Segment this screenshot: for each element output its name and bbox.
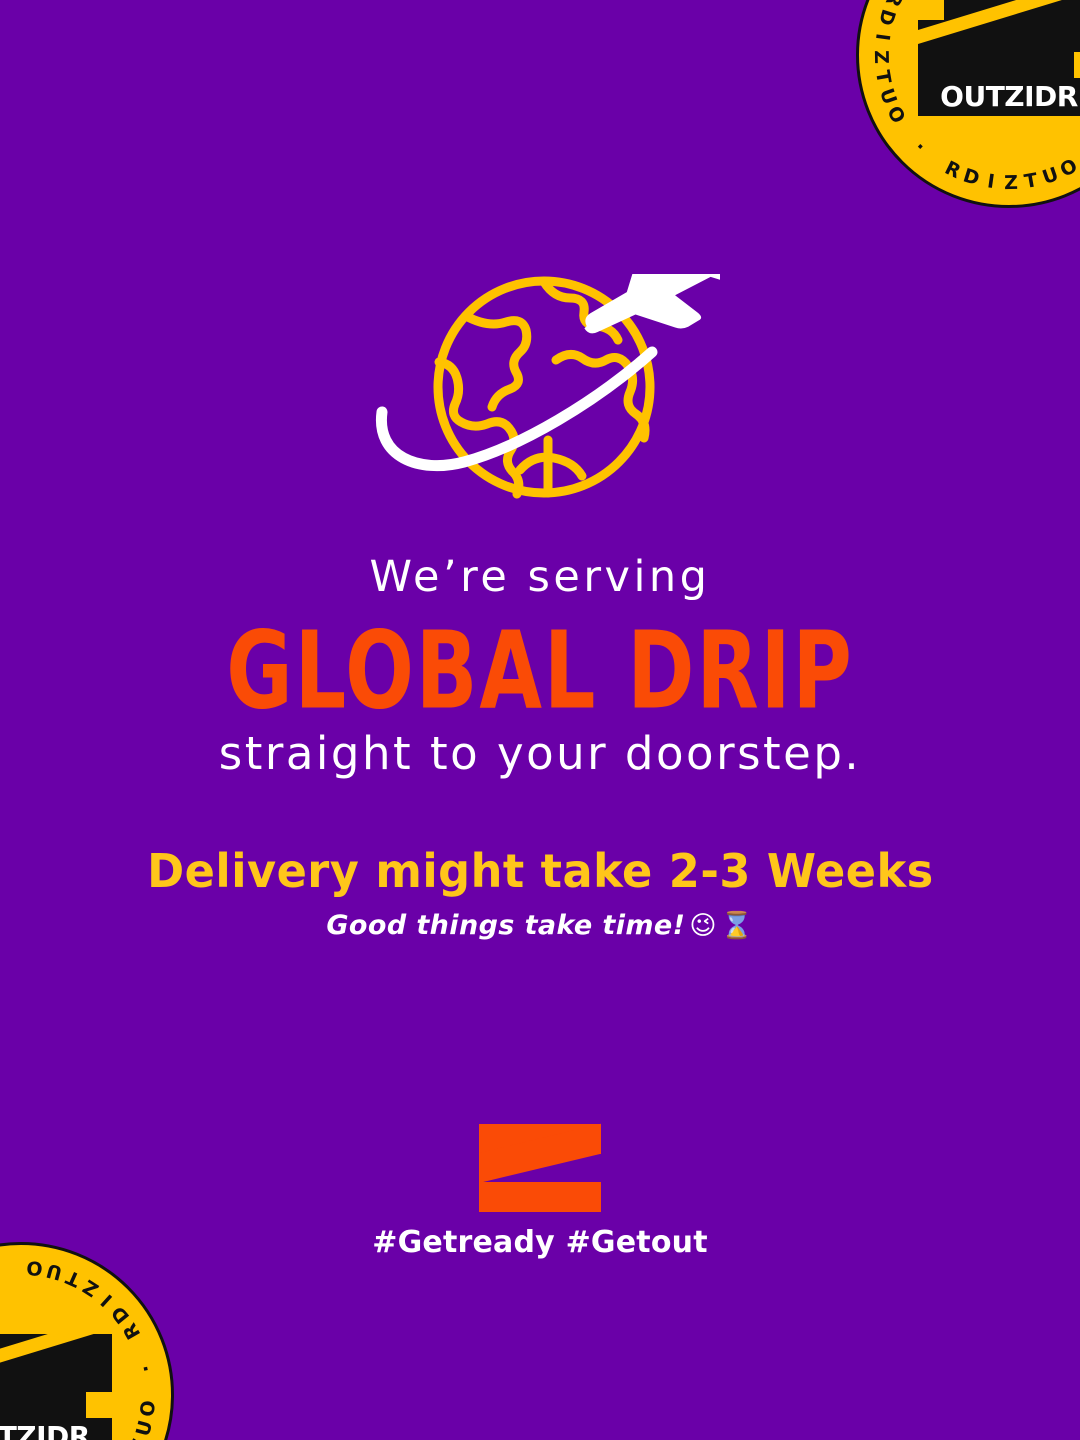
headline-line-1: We’re serving xyxy=(370,556,711,599)
headline-line-2: GLOBAL DRIP xyxy=(226,617,853,724)
poster-canvas: OUTZIDR·OUTZIDR·OUTZIDR·OUTZIDR· OUTZIDR… xyxy=(0,0,1080,1440)
delivery-note: Good things take time! 😉 ⌛ xyxy=(326,912,753,939)
globe-airplane-icon xyxy=(360,274,720,504)
delivery-headline: Delivery might take 2-3 Weeks xyxy=(147,848,934,894)
headline-line-3: straight to your doorstep. xyxy=(219,731,861,776)
hashtags: #Getready #Getout xyxy=(372,1228,707,1258)
poster-footer: #Getready #Getout xyxy=(0,1124,1080,1258)
hourglass-icon: ⌛ xyxy=(721,913,754,939)
winking-face-icon: 😉 xyxy=(689,913,717,939)
outzidr-z-logo-icon xyxy=(479,1124,601,1212)
delivery-note-text: Good things take time! xyxy=(326,912,685,939)
